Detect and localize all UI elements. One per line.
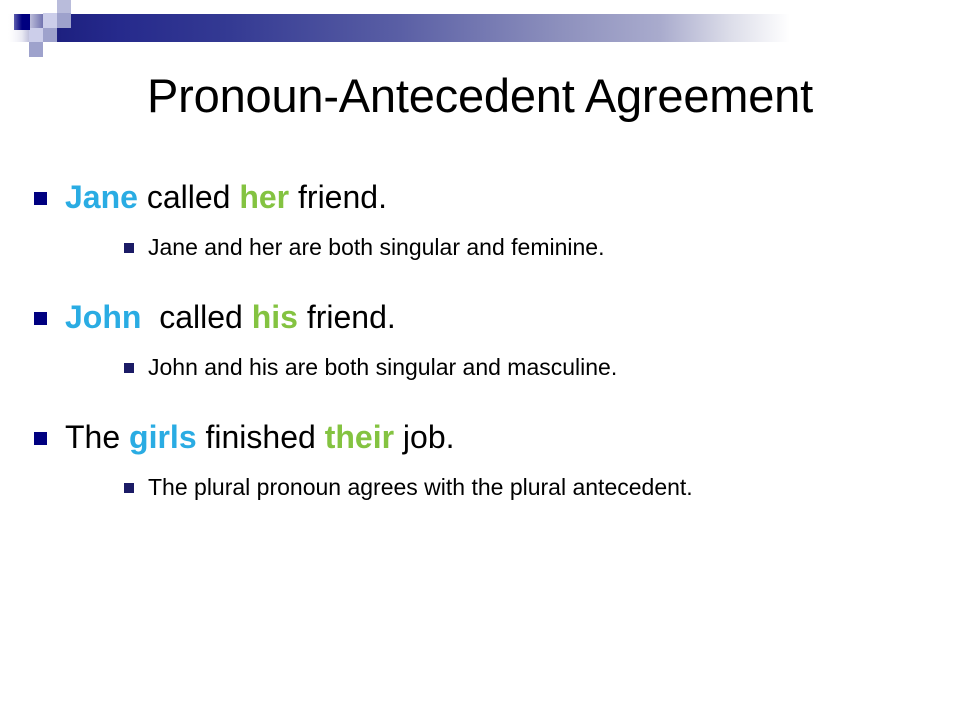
main-bullet-text: Jane called her friend. xyxy=(65,176,934,218)
sub-bullet-item: Jane and her are both singular and femin… xyxy=(124,232,934,262)
keyword-pronoun: their xyxy=(325,419,394,455)
square-bullet-icon xyxy=(34,192,47,205)
deco-square-lavender-bottom xyxy=(29,42,43,57)
main-bullet-text: John called his friend. xyxy=(65,296,934,338)
deco-left-fade xyxy=(0,0,22,62)
slide-body: Jane called her friend. Jane and her are… xyxy=(34,176,934,502)
square-bullet-icon xyxy=(124,243,134,253)
square-bullet-icon xyxy=(124,363,134,373)
main-bullet-item: The girls finished their job. xyxy=(34,416,934,458)
keyword-antecedent: girls xyxy=(129,419,197,455)
sub-bullet-item: John and his are both singular and mascu… xyxy=(124,352,934,382)
sub-bullet-text: John and his are both singular and mascu… xyxy=(148,352,934,382)
keyword-antecedent: John xyxy=(65,299,141,335)
deco-square-lavender-mid xyxy=(57,13,71,28)
keyword-antecedent: Jane xyxy=(65,179,138,215)
main-bullet-text: The girls finished their job. xyxy=(65,416,934,458)
main-bullet-item: Jane called her friend. xyxy=(34,176,934,218)
main-text-segment: friend. xyxy=(289,179,387,215)
main-text-segment: finished xyxy=(197,419,325,455)
sub-bullet-text: Jane and her are both singular and femin… xyxy=(148,232,934,262)
main-text-segment: The xyxy=(65,419,129,455)
square-bullet-icon xyxy=(124,483,134,493)
bullet-group: John called his friend. John and his are… xyxy=(34,296,934,382)
sub-bullet-item: The plural pronoun agrees with the plura… xyxy=(124,472,934,502)
gradient-bar xyxy=(0,14,790,42)
deco-square-lavender-lower xyxy=(43,28,57,42)
main-text-segment: job. xyxy=(394,419,454,455)
decorative-header-band xyxy=(0,0,960,62)
slide: Pronoun-Antecedent Agreement Jane called… xyxy=(0,0,960,720)
main-text-segment: called xyxy=(141,299,251,335)
main-text-segment: called xyxy=(138,179,239,215)
main-bullet-item: John called his friend. xyxy=(34,296,934,338)
sub-bullet-text: The plural pronoun agrees with the plura… xyxy=(148,472,934,502)
keyword-pronoun: his xyxy=(252,299,298,335)
square-bullet-icon xyxy=(34,312,47,325)
bullet-group: Jane called her friend. Jane and her are… xyxy=(34,176,934,262)
square-bullet-icon xyxy=(34,432,47,445)
bullet-group: The girls finished their job. The plural… xyxy=(34,416,934,502)
main-text-segment: friend. xyxy=(298,299,396,335)
slide-title: Pronoun-Antecedent Agreement xyxy=(0,68,960,124)
keyword-pronoun: her xyxy=(239,179,289,215)
